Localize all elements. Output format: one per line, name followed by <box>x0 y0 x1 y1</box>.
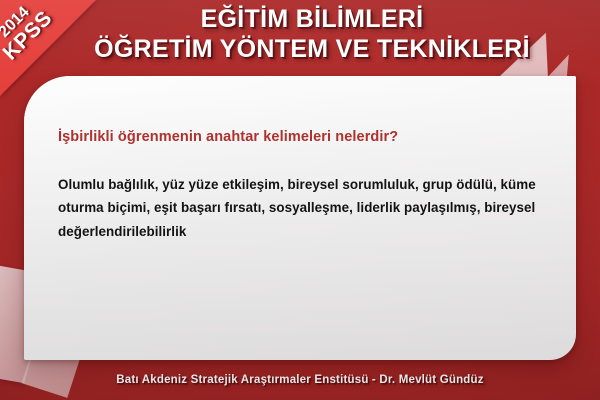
footer: Batı Akdeniz Stratejik Araştırmaler Enst… <box>0 360 600 400</box>
slide-root: EĞİTİM BİLİMLERİ ÖĞRETİM YÖNTEM VE TEKNİ… <box>0 0 600 400</box>
corner-badge: 2014 KPSS <box>0 0 120 120</box>
answer-text: Olumlu bağlılık, yüz yüze etkileşim, bir… <box>58 173 542 243</box>
question-text: İşbirlikli öğrenmenin anahtar kelimeleri… <box>58 128 542 147</box>
footer-credit-label: Batı Akdeniz Stratejik Araştırmaler Enst… <box>116 374 483 386</box>
